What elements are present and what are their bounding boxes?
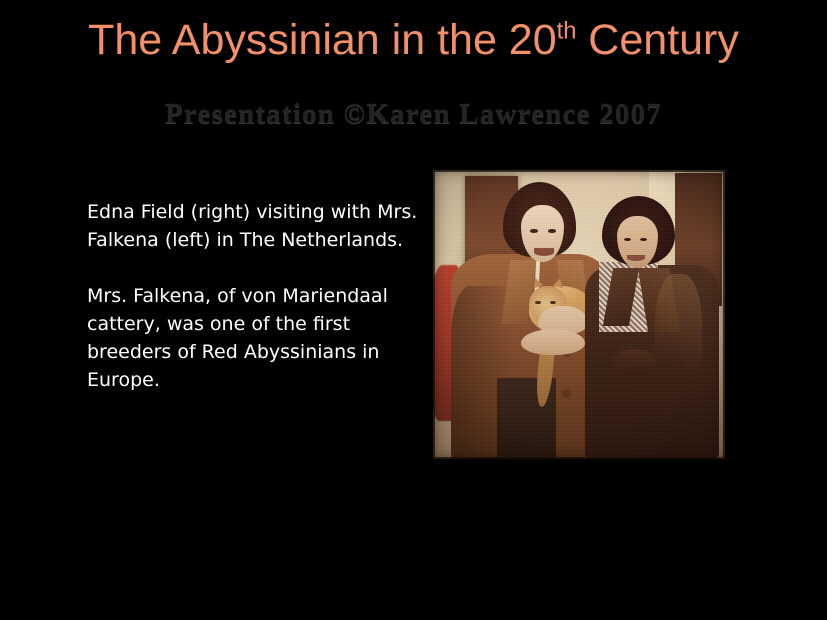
title-text-after: Century — [576, 16, 739, 64]
right-woman-smile — [627, 255, 645, 261]
title-text-before: The Abyssinian in the 20 — [88, 16, 557, 64]
left-woman-hand-lower — [521, 329, 585, 355]
slide-photograph — [433, 170, 725, 459]
slide-body-text: Edna Field (right) visiting with Mrs. Fa… — [87, 198, 422, 394]
title-ordinal-superscript: th — [557, 19, 577, 45]
cat-eye-right — [550, 301, 556, 304]
right-woman-jacket-highlight — [655, 274, 702, 401]
copyright-subtitle: Presentation ©Karen Lawrence 2007 — [0, 98, 827, 131]
photo-image — [433, 170, 725, 459]
left-woman-eye-left — [530, 229, 538, 233]
left-woman-button-lower — [563, 390, 570, 397]
left-woman-smile — [534, 248, 554, 256]
right-woman-hands — [614, 349, 655, 375]
body-paragraph-2: Mrs. Falkena, of von Mariendaal cattery,… — [87, 282, 422, 394]
cat-eye-left — [535, 301, 541, 304]
left-woman-eye-right — [548, 229, 556, 233]
page-title: The Abyssinian in the 20th Century — [0, 16, 827, 65]
body-paragraph-1: Edna Field (right) visiting with Mrs. Fa… — [87, 198, 422, 254]
presentation-slide: The Abyssinian in the 20th Century Prese… — [0, 0, 827, 620]
